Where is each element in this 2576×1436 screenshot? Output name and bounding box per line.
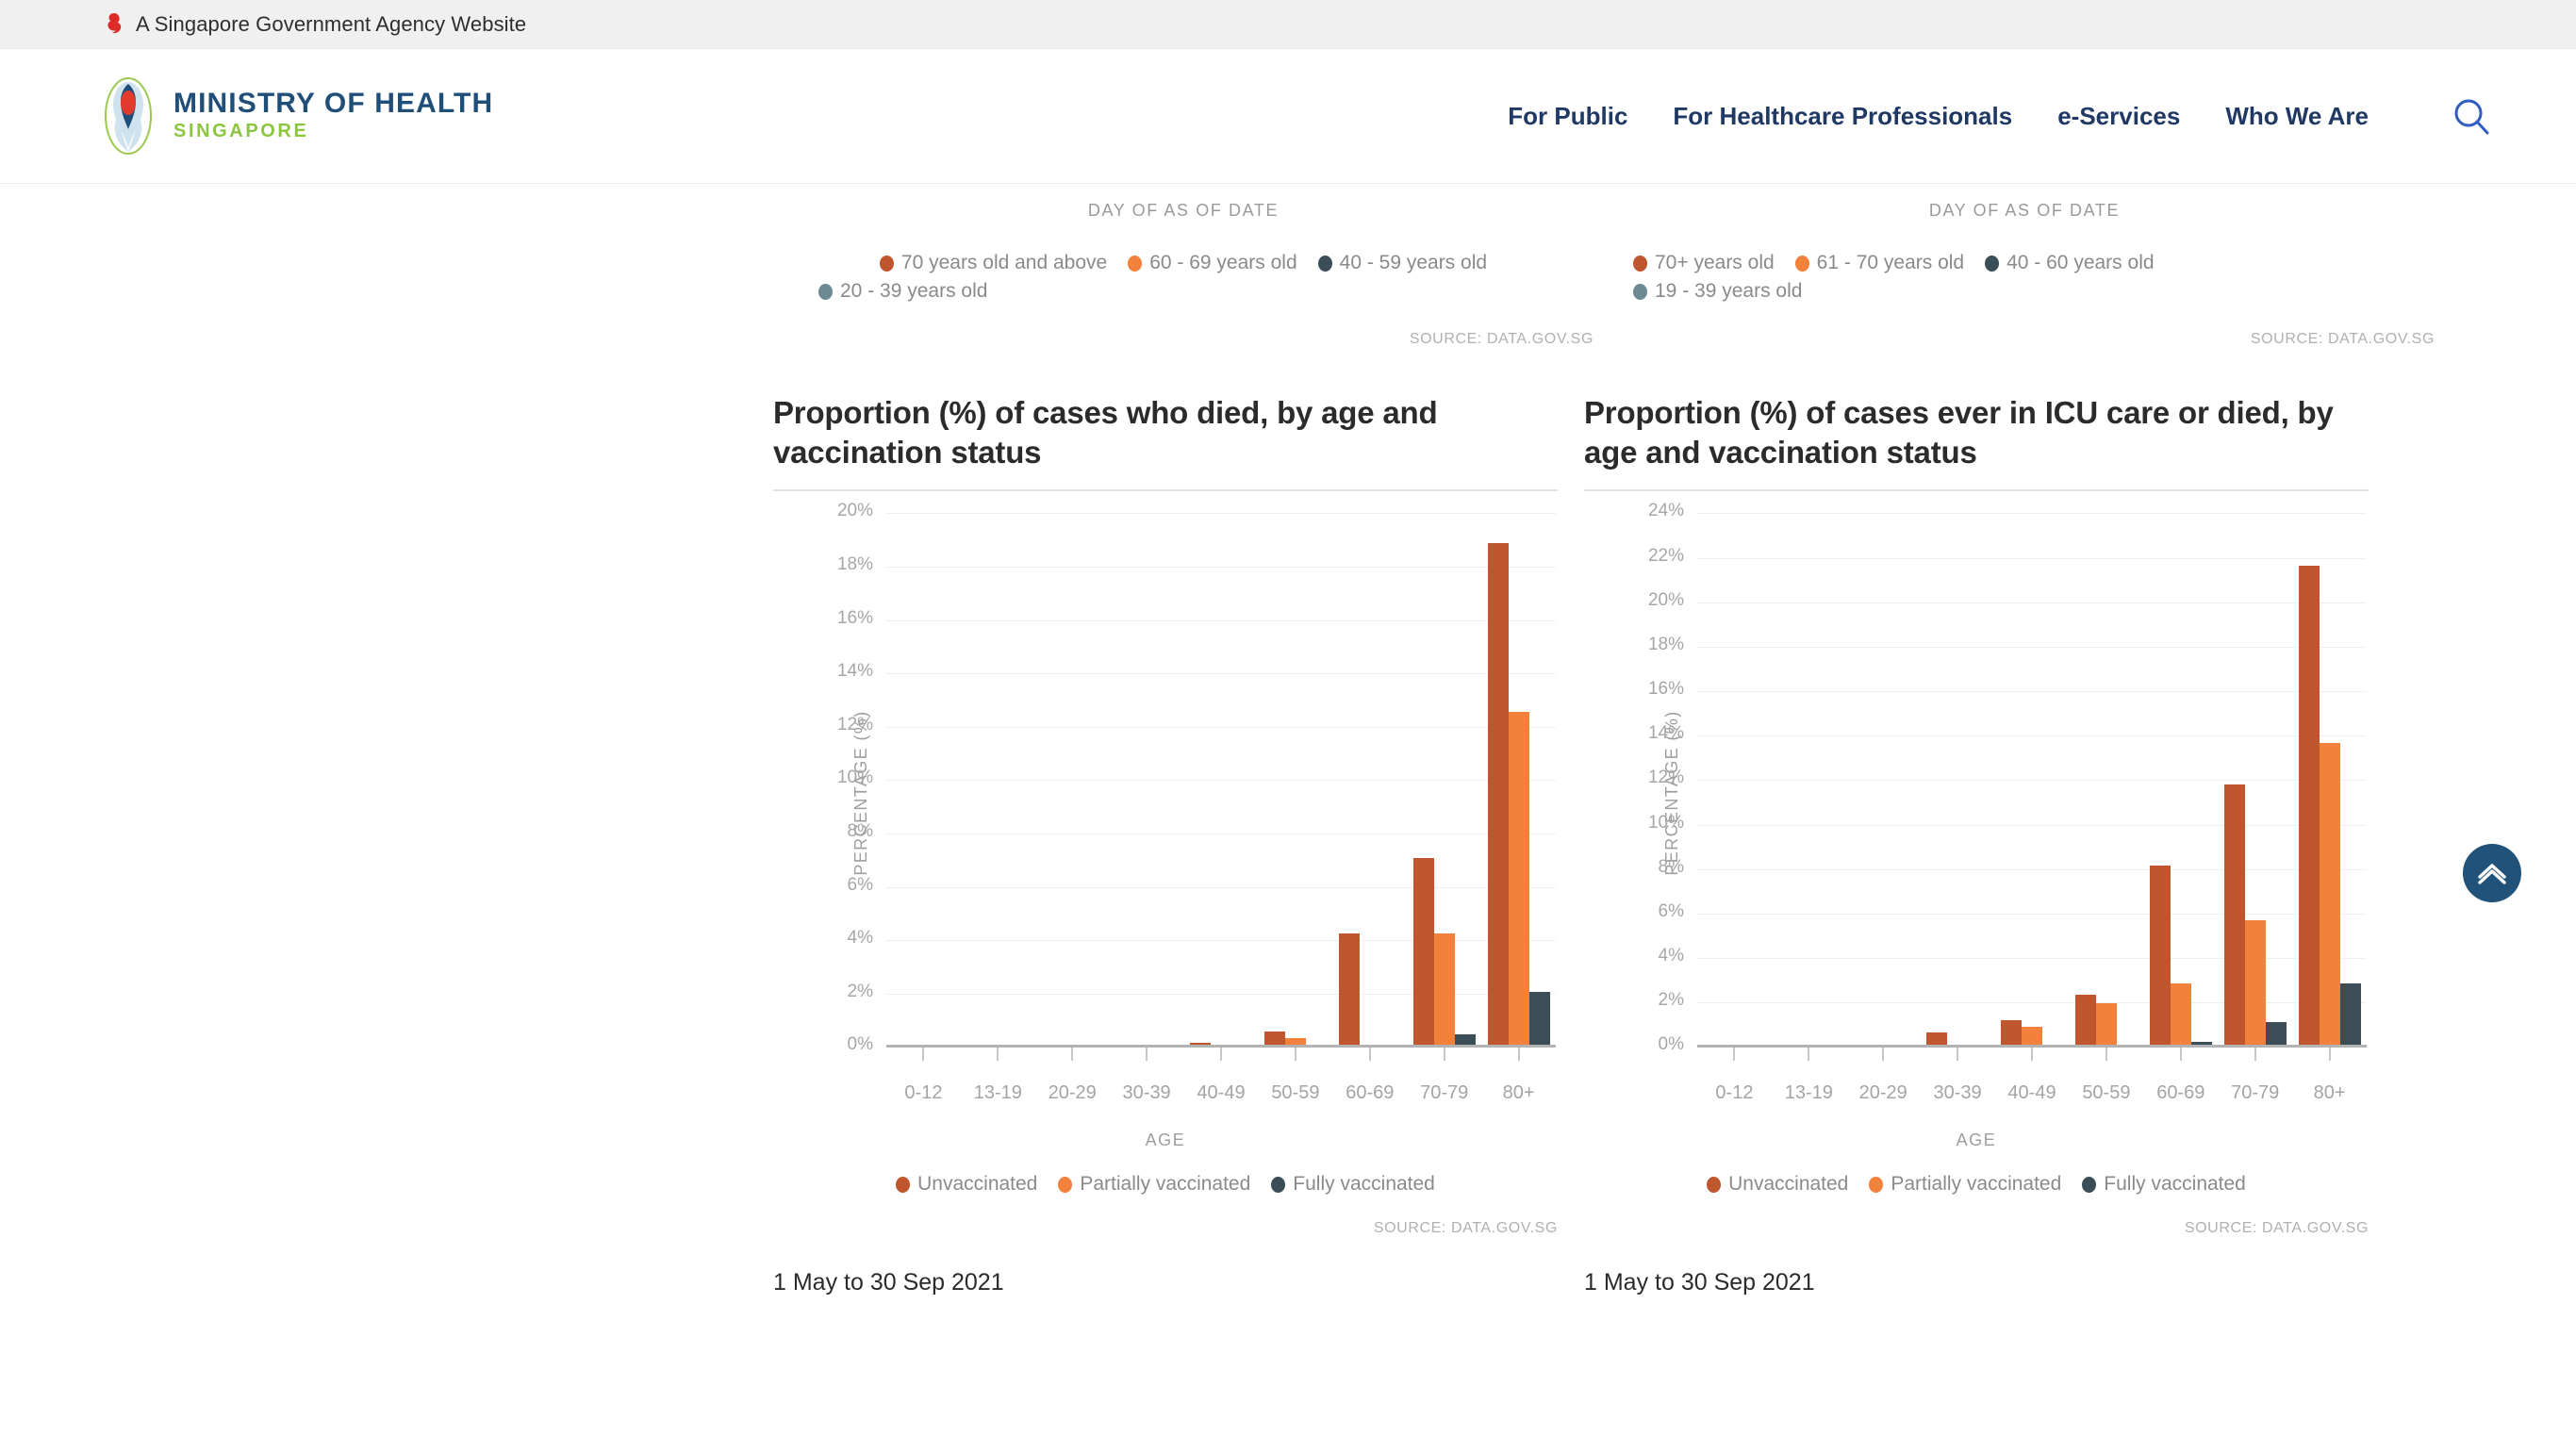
x-axis-ticks	[886, 1048, 1556, 1061]
y-axis-tick-label: 14%	[1648, 723, 1684, 744]
x-axis-label: 60-69	[1332, 1082, 1407, 1104]
y-axis-tick-label: 12%	[1648, 768, 1684, 788]
search-icon	[2452, 96, 2491, 136]
x-axis-tick	[1697, 1048, 1772, 1061]
tick-mark	[1882, 1048, 1884, 1061]
x-axis-tick	[961, 1048, 1035, 1061]
bar-group	[961, 514, 1035, 1048]
bar[interactable]	[2150, 866, 2171, 1048]
legend-label: Partially vaccinated	[1080, 1173, 1250, 1196]
bar-series-container	[1697, 514, 2367, 1048]
tick-mark	[1808, 1048, 1809, 1061]
chart-date-range: 1 May to 30 Sep 2021	[773, 1269, 1558, 1296]
x-axis-label: 20-29	[1035, 1082, 1110, 1104]
x-axis-tick	[2069, 1048, 2143, 1061]
tick-mark	[1733, 1048, 1735, 1061]
top-chart-left-axis-caption: DAY OF AS OF DATE	[773, 201, 1593, 221]
chart-grid: 24%22%20%18%16%14%12%10%8%6%4%2%0%	[1697, 514, 2367, 1048]
bar-group	[1035, 514, 1110, 1048]
site-header: MINISTRY OF HEALTH SINGAPORE For Public …	[0, 49, 2576, 184]
scroll-to-top-button[interactable]	[2463, 844, 2521, 902]
x-axis-tick	[886, 1048, 961, 1061]
government-banner: A Singapore Government Agency Website	[0, 0, 2576, 49]
legend-item-unvaccinated[interactable]: Unvaccinated	[896, 1173, 1037, 1196]
x-axis-label: 70-79	[1407, 1082, 1481, 1104]
bar[interactable]	[2299, 566, 2320, 1048]
y-axis-tick-label: 8%	[1659, 857, 1684, 878]
y-axis-tick-label: 0%	[1659, 1034, 1684, 1055]
government-banner-text: A Singapore Government Agency Website	[136, 12, 526, 37]
x-axis-title: AGE	[773, 1131, 1558, 1150]
y-axis-tick-label: 16%	[1648, 679, 1684, 700]
x-axis-label: 20-29	[1846, 1082, 1921, 1104]
x-axis-ticks	[1697, 1048, 2367, 1061]
bar-group	[1407, 514, 1481, 1048]
moh-logo[interactable]: MINISTRY OF HEALTH SINGAPORE	[104, 76, 493, 156]
search-button[interactable]	[2450, 94, 2493, 138]
top-chart-right-axis-caption: DAY OF AS OF DATE	[1614, 201, 2435, 221]
legend-item[interactable]: 60 - 69 years old	[1128, 249, 1296, 277]
nav-item-e-services[interactable]: e-Services	[2057, 102, 2180, 131]
legend-dot-icon	[1795, 256, 1809, 272]
tick-mark	[1444, 1048, 1445, 1061]
x-axis-tick	[2143, 1048, 2218, 1061]
chart-legend: Unvaccinated Partially vaccinated Fully …	[1584, 1173, 2369, 1196]
bar[interactable]	[2340, 983, 2361, 1048]
legend-item[interactable]: 70+ years old	[1633, 249, 1775, 277]
tick-mark	[2329, 1048, 2331, 1061]
top-chart-left-source: SOURCE: DATA.GOV.SG	[773, 331, 1593, 348]
chart-plot-area: PERCENTAGE (%) 20%18%16%14%12%10%8%6%4%2…	[773, 514, 1558, 1072]
tick-mark	[922, 1048, 924, 1061]
tick-mark	[2031, 1048, 2033, 1061]
chart-date-range: 1 May to 30 Sep 2021	[1584, 1269, 2369, 1296]
x-axis-tick	[1995, 1048, 2070, 1061]
x-axis-label: 40-49	[1995, 1082, 2070, 1104]
legend-label: Unvaccinated	[1728, 1173, 1848, 1196]
x-axis-tick	[2292, 1048, 2367, 1061]
singapore-lion-icon	[104, 12, 124, 37]
y-axis-tick-label: 6%	[1659, 901, 1684, 922]
legend-label: 70+ years old	[1655, 249, 1775, 277]
chart-plot-area: PERCENTAGE (%) 24%22%20%18%16%14%12%10%8…	[1584, 514, 2369, 1072]
chart-legend: Unvaccinated Partially vaccinated Fully …	[773, 1173, 1558, 1196]
nav-item-who-we-are[interactable]: Who We Are	[2225, 102, 2369, 131]
tick-mark	[1369, 1048, 1371, 1061]
y-axis-tick-label: 6%	[848, 875, 873, 896]
y-axis-tick-label: 8%	[848, 821, 873, 842]
bar-group	[2069, 514, 2143, 1048]
legend-dot-icon	[1058, 1177, 1072, 1193]
x-axis-label: 30-39	[1110, 1082, 1184, 1104]
y-axis-tick-label: 12%	[837, 715, 873, 735]
nav-item-for-public[interactable]: For Public	[1508, 102, 1627, 131]
legend-item[interactable]: 70 years old and above	[880, 249, 1107, 277]
logo-line-1: MINISTRY OF HEALTH	[173, 89, 493, 119]
tick-mark	[2254, 1048, 2256, 1061]
x-axis-label: 60-69	[2143, 1082, 2218, 1104]
legend-label: 40 - 60 years old	[2006, 249, 2154, 277]
x-axis-title: AGE	[1584, 1131, 2369, 1150]
x-axis-tick	[2218, 1048, 2292, 1061]
chart-title: Proportion (%) of cases who died, by age…	[773, 393, 1558, 491]
x-axis-label: 80+	[1481, 1082, 1556, 1104]
x-axis-label: 50-59	[1258, 1082, 1332, 1104]
top-chart-right-footer: DAY OF AS OF DATE 70+ years old 61 - 70 …	[1614, 201, 2435, 348]
legend-label: 40 - 59 years old	[1340, 249, 1487, 277]
y-axis-tick-label: 0%	[848, 1034, 873, 1055]
chart-card-icu-or-died: Proportion (%) of cases ever in ICU care…	[1584, 393, 2369, 1296]
moh-lotus-logo-icon	[104, 76, 153, 156]
logo-line-2: SINGAPORE	[173, 119, 493, 143]
bar[interactable]	[1529, 992, 1550, 1048]
x-axis-tick	[1921, 1048, 1995, 1061]
y-axis-tick-label: 18%	[1648, 635, 1684, 655]
legend-item[interactable]: 40 - 60 years old	[1985, 249, 2154, 277]
legend-dot-icon	[1707, 1177, 1721, 1193]
tick-mark	[1071, 1048, 1073, 1061]
x-axis-tick	[1846, 1048, 1921, 1061]
x-axis-tick	[1407, 1048, 1481, 1061]
chart-source: SOURCE: DATA.GOV.SG	[773, 1220, 1558, 1237]
x-axis-label: 40-49	[1184, 1082, 1259, 1104]
x-axis-label: 70-79	[2218, 1082, 2292, 1104]
bar-group	[1846, 514, 1921, 1048]
y-axis-title: PERCENTAGE (%)	[851, 711, 871, 876]
bar[interactable]	[2001, 1020, 2022, 1048]
legend-dot-icon	[1633, 256, 1647, 272]
chart-title: Proportion (%) of cases ever in ICU care…	[1584, 393, 2369, 491]
bar-group	[1995, 514, 2070, 1048]
bar-group	[1258, 514, 1332, 1048]
legend-label: Fully vaccinated	[2104, 1173, 2246, 1196]
legend-label: Unvaccinated	[917, 1173, 1037, 1196]
legend-label: 19 - 39 years old	[1655, 277, 1802, 305]
nav-item-for-healthcare-professionals[interactable]: For Healthcare Professionals	[1673, 102, 2012, 131]
legend-dot-icon	[896, 1177, 910, 1193]
legend-item[interactable]: 20 - 39 years old	[811, 277, 1556, 305]
legend-item-fully-vaccinated[interactable]: Fully vaccinated	[2082, 1173, 2246, 1196]
chart-source: SOURCE: DATA.GOV.SG	[1584, 1220, 2369, 1237]
main-charts-row: Proportion (%) of cases who died, by age…	[0, 393, 2576, 1296]
chart-grid: 20%18%16%14%12%10%8%6%4%2%0%	[886, 514, 1556, 1048]
top-chart-right-legend: 70+ years old 61 - 70 years old 40 - 60 …	[1633, 249, 2237, 306]
y-axis-tick-label: 10%	[837, 768, 873, 788]
x-axis-tick	[1035, 1048, 1110, 1061]
legend-label: Partially vaccinated	[1891, 1173, 2061, 1196]
y-axis-tick-label: 20%	[1648, 590, 1684, 611]
bar[interactable]	[1488, 543, 1509, 1048]
x-axis-label: 50-59	[2069, 1082, 2143, 1104]
x-axis-tick	[1184, 1048, 1259, 1061]
bar-group	[1481, 514, 1556, 1048]
legend-dot-icon	[1633, 284, 1647, 300]
legend-label: 70 years old and above	[901, 249, 1107, 277]
x-axis-tick	[1258, 1048, 1332, 1061]
bar[interactable]	[2171, 983, 2191, 1048]
legend-dot-icon	[880, 256, 894, 272]
x-axis-tick	[1481, 1048, 1556, 1061]
bar[interactable]	[2224, 784, 2245, 1048]
bar-group	[1184, 514, 1259, 1048]
legend-item[interactable]: 40 - 59 years old	[1318, 249, 1487, 277]
x-axis-label: 13-19	[1772, 1082, 1846, 1104]
bar-group	[1110, 514, 1184, 1048]
bar-group	[1697, 514, 1772, 1048]
y-axis-tick-label: 20%	[837, 501, 873, 521]
x-axis-label: 0-12	[1697, 1082, 1772, 1104]
tick-mark	[1220, 1048, 1222, 1061]
bar[interactable]	[1413, 858, 1434, 1048]
y-axis-tick-label: 4%	[1659, 946, 1684, 966]
bar[interactable]	[2245, 920, 2266, 1048]
x-axis-labels: 0-1213-1920-2930-3940-4950-5960-6970-798…	[1697, 1082, 2367, 1104]
legend-item[interactable]: 61 - 70 years old	[1795, 249, 1964, 277]
legend-item-partially-vaccinated[interactable]: Partially vaccinated	[1869, 1173, 2061, 1196]
legend-dot-icon	[1271, 1177, 1285, 1193]
y-axis-tick-label: 22%	[1648, 546, 1684, 567]
top-chart-left-footer: DAY OF AS OF DATE 70 years old and above…	[773, 201, 1593, 348]
tick-mark	[1295, 1048, 1296, 1061]
top-chart-left-legend: 70 years old and above 60 - 69 years old…	[811, 249, 1556, 306]
legend-item-partially-vaccinated[interactable]: Partially vaccinated	[1058, 1173, 1250, 1196]
bar[interactable]	[2075, 995, 2096, 1048]
tick-mark	[2105, 1048, 2107, 1061]
chart-card-deaths: Proportion (%) of cases who died, by age…	[773, 393, 1558, 1296]
x-axis-label: 0-12	[886, 1082, 961, 1104]
legend-dot-icon	[2082, 1177, 2096, 1193]
tick-mark	[1518, 1048, 1520, 1061]
top-chart-right-source: SOURCE: DATA.GOV.SG	[1614, 331, 2435, 348]
legend-dot-icon	[1128, 256, 1142, 272]
legend-item[interactable]: 19 - 39 years old	[1633, 277, 2237, 305]
y-axis-tick-label: 16%	[837, 608, 873, 629]
bar-group	[886, 514, 961, 1048]
y-axis-tick-label: 18%	[837, 554, 873, 575]
chevron-up-icon	[2476, 861, 2508, 885]
y-axis-tick-label: 10%	[1648, 813, 1684, 834]
bar-group	[1332, 514, 1407, 1048]
legend-dot-icon	[818, 284, 833, 300]
bar[interactable]	[2096, 1003, 2117, 1048]
x-axis-labels: 0-1213-1920-2930-3940-4950-5960-6970-798…	[886, 1082, 1556, 1104]
bar-group	[1921, 514, 1995, 1048]
x-axis-tick	[1110, 1048, 1184, 1061]
y-axis-tick-label: 2%	[1659, 990, 1684, 1011]
top-charts-legend-row: DAY OF AS OF DATE 70 years old and above…	[0, 184, 2576, 348]
tick-mark	[997, 1048, 999, 1061]
x-axis-label: 30-39	[1921, 1082, 1995, 1104]
legend-label: Fully vaccinated	[1293, 1173, 1435, 1196]
tick-mark	[2180, 1048, 2182, 1061]
main-navigation: For Public For Healthcare Professionals …	[1508, 94, 2493, 138]
legend-label: 60 - 69 years old	[1149, 249, 1296, 277]
x-axis-tick	[1772, 1048, 1846, 1061]
legend-dot-icon	[1869, 1177, 1883, 1193]
x-axis-label: 13-19	[961, 1082, 1035, 1104]
y-axis-tick-label: 2%	[848, 982, 873, 1002]
y-axis-tick-label: 4%	[848, 928, 873, 949]
bar-group	[2218, 514, 2292, 1048]
legend-dot-icon	[1318, 256, 1332, 272]
tick-mark	[1957, 1048, 1958, 1061]
y-axis-tick-label: 14%	[837, 661, 873, 682]
legend-label: 20 - 39 years old	[840, 277, 987, 305]
tick-mark	[1146, 1048, 1148, 1061]
bar[interactable]	[2320, 743, 2340, 1048]
bar-group	[2143, 514, 2218, 1048]
bar-series-container	[886, 514, 1556, 1048]
page-content: DAY OF AS OF DATE 70 years old and above…	[0, 184, 2576, 1435]
bar-group	[2292, 514, 2367, 1048]
legend-dot-icon	[1985, 256, 1999, 272]
x-axis-label: 80+	[2292, 1082, 2367, 1104]
bar[interactable]	[1339, 933, 1360, 1048]
bar[interactable]	[1434, 933, 1455, 1048]
y-axis-tick-label: 24%	[1648, 501, 1684, 521]
bar[interactable]	[1509, 712, 1529, 1048]
bar-group	[1772, 514, 1846, 1048]
legend-item-unvaccinated[interactable]: Unvaccinated	[1707, 1173, 1848, 1196]
legend-item-fully-vaccinated[interactable]: Fully vaccinated	[1271, 1173, 1435, 1196]
legend-label: 61 - 70 years old	[1817, 249, 1964, 277]
x-axis-tick	[1332, 1048, 1407, 1061]
bar[interactable]	[2266, 1022, 2287, 1048]
